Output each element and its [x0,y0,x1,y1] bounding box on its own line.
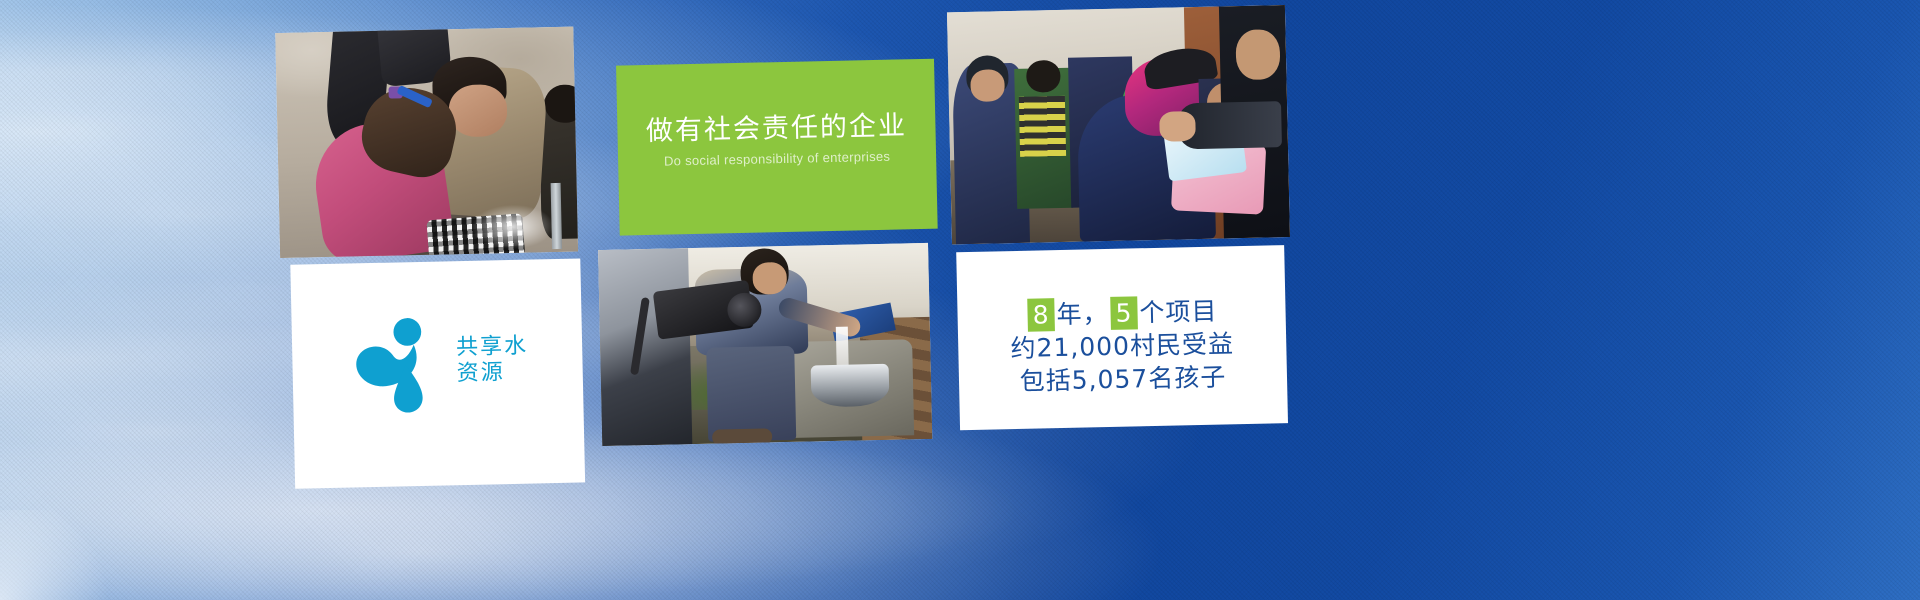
tapdemo-man-face [752,262,787,295]
slogan-headline-cn: 做有社会责任的企业 [627,111,926,148]
stats-panel: 8年，5个项目 约21,000村民受益 包括5,057名孩子 [956,245,1288,430]
stats-projects-label: 个项目 [1139,297,1218,328]
logo-lockup: 共享水 资源 [291,306,583,416]
handwash-child-middle-face [448,84,507,137]
donation-villager-2-vest [1019,96,1066,157]
stats-years-label: 年， [1056,299,1109,329]
handwash-child-right-hair [544,84,578,123]
stats-years-value: 8 [1027,298,1055,332]
banner-stage: 做有社会责任的企业 Do social responsibility of en… [0,0,1920,600]
tapdemo-man [694,249,820,438]
tapdemo-cameraman [598,248,692,446]
stats-line-3: 包括5,057名孩子 [959,359,1288,399]
logo-wordmark-line2: 资源 [456,360,529,388]
slogan-panel: 做有社会责任的企业 Do social responsibility of en… [616,59,938,236]
logo-wordmark-line1: 共享水 [456,334,529,362]
photo-donation-image: 刻多樽 [947,5,1290,244]
logo-panel: 共享水 资源 [290,258,585,488]
photo-collage: 做有社会责任的企业 Do social responsibility of en… [275,0,1295,491]
slogan-headline-en: Do social responsibility of enterprises [628,148,926,169]
tapdemo-man-shoe [712,428,772,445]
handwash-water-splash [469,203,556,251]
tapdemo-man-legs [706,346,796,442]
water-droplet-figure-icon [345,309,451,415]
slogan-text-block: 做有社会责任的企业 Do social responsibility of en… [617,111,936,170]
photo-donation[interactable]: 刻多樽 [947,5,1290,244]
photo-handwash[interactable] [275,27,578,258]
donation-volunteer-hand [1159,111,1196,142]
stats-text-block: 8年，5个项目 约21,000村民受益 包括5,057名孩子 [957,293,1287,399]
donation-villager-1-face [970,69,1005,102]
stats-projects-value: 5 [1110,296,1138,330]
photo-tapdemo[interactable] [598,243,932,446]
tapdemo-metal-bowl [811,364,890,408]
donation-volunteer-face [1235,29,1280,80]
logo-wordmark: 共享水 资源 [456,334,529,387]
donation-villager-2-head [1026,60,1061,93]
photo-handwash-image [275,27,578,258]
photo-tapdemo-image [598,243,932,446]
